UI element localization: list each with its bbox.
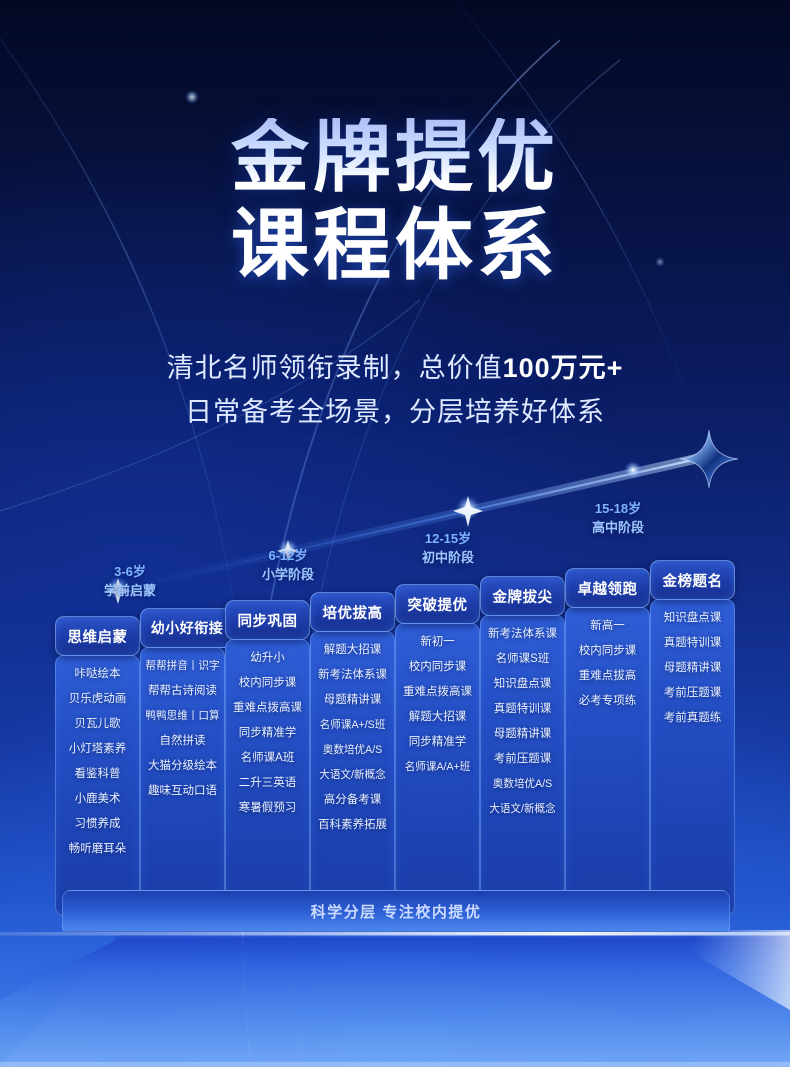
course-item[interactable]: 母题精讲课 — [664, 656, 722, 681]
course-item[interactable]: 鸭鸭思维丨口算 — [145, 704, 219, 729]
course-column-body-0: 咔哒绘本贝乐虎动画贝瓦儿歌小灯塔素养看鉴科普小鹿美术习惯养成畅听磨耳朵 — [55, 655, 140, 916]
course-column-body-1: 帮帮拼音丨识字帮帮古诗阅读鸭鸭思维丨口算自然拼读大猫分级绘本趣味互动口语 — [140, 647, 225, 916]
course-column-header-7[interactable]: 金榜题名 — [650, 560, 735, 600]
course-column-body-7: 知识盘点课真题特训课母题精讲课考前压题课考前真题练 — [650, 599, 735, 916]
course-item[interactable]: 看鉴科普 — [75, 762, 121, 787]
course-item[interactable]: 小灯塔素养 — [69, 737, 127, 762]
course-item[interactable]: 新考法体系课 — [488, 622, 557, 647]
course-item[interactable]: 二升三英语 — [239, 771, 297, 796]
stage-label-3: 15-18岁 高中阶段 — [592, 500, 644, 538]
stage-age-2: 12-15岁 — [422, 530, 474, 549]
course-column-header-1[interactable]: 幼小好衔接 — [140, 608, 234, 648]
subtitle-line-1-highlight: 100万元+ — [503, 353, 624, 383]
course-item[interactable]: 帮帮古诗阅读 — [148, 679, 217, 704]
course-column-header-label-1: 幼小好衔接 — [151, 618, 224, 638]
course-column-header-2[interactable]: 同步巩固 — [225, 600, 310, 640]
promo-poster: 金牌提优 课程体系 清北名师领衔录制，总价值100万元+ 日常备考全场景，分层培… — [0, 0, 790, 1067]
course-item[interactable]: 百科素养拓展 — [318, 813, 387, 838]
bottom-banner: 科学分层 专注校内提优 — [62, 890, 730, 932]
course-column-header-5[interactable]: 金牌拔尖 — [480, 576, 565, 616]
course-item[interactable]: 奥数培优A/S — [493, 772, 552, 797]
course-column-header-6[interactable]: 卓越领跑 — [565, 568, 650, 608]
course-item[interactable]: 新考法体系课 — [318, 663, 387, 688]
stage-name-3: 高中阶段 — [592, 519, 644, 538]
course-item[interactable]: 母题精讲课 — [494, 722, 552, 747]
course-ladder: 咔哒绘本贝乐虎动画贝瓦儿歌小灯塔素养看鉴科普小鹿美术习惯养成畅听磨耳朵思维启蒙帮… — [0, 560, 790, 900]
course-item[interactable]: 畅听磨耳朵 — [69, 837, 127, 862]
course-column-header-label-5: 金牌拔尖 — [493, 586, 553, 607]
course-item[interactable]: 大语文/新概念 — [489, 797, 556, 822]
course-item[interactable]: 解题大招课 — [409, 705, 467, 730]
page-title-line-1: 金牌提优 — [0, 118, 790, 198]
course-item[interactable]: 高分备考课 — [324, 788, 382, 813]
subtitle-line-1-text: 清北名师领衔录制，总价值 — [167, 353, 503, 383]
course-column-header-0[interactable]: 思维启蒙 — [55, 616, 140, 656]
course-item[interactable]: 真题特训课 — [664, 631, 722, 656]
course-item[interactable]: 考前压题课 — [664, 681, 722, 706]
course-item[interactable]: 校内同步课 — [409, 655, 467, 680]
course-item[interactable]: 知识盘点课 — [664, 606, 722, 631]
course-item[interactable]: 重难点拨高课 — [403, 680, 472, 705]
course-item[interactable]: 解题大招课 — [324, 638, 382, 663]
course-column-header-label-4: 突破提优 — [408, 594, 468, 615]
course-item[interactable]: 真题特训课 — [494, 697, 552, 722]
course-column-header-label-0: 思维启蒙 — [68, 626, 128, 647]
course-item[interactable]: 同步精准学 — [239, 721, 297, 746]
course-item[interactable]: 贝瓦儿歌 — [75, 712, 121, 737]
course-item[interactable]: 校内同步课 — [579, 639, 637, 664]
course-item[interactable]: 同步精准学 — [409, 730, 467, 755]
subtitle-line-2: 日常备考全场景，分层培养好体系 — [0, 391, 790, 435]
hero-subtitle-block: 清北名师领衔录制，总价值100万元+ 日常备考全场景，分层培养好体系 — [0, 347, 790, 434]
course-item[interactable]: 母题精讲课 — [324, 688, 382, 713]
course-item[interactable]: 幼升小 — [250, 646, 285, 671]
course-item[interactable]: 寒暑假预习 — [239, 796, 297, 821]
course-column-header-label-2: 同步巩固 — [238, 610, 298, 631]
course-item[interactable]: 新高一 — [590, 614, 625, 639]
course-column-header-label-3: 培优拔高 — [323, 602, 383, 623]
page-title-line-2: 课程体系 — [0, 206, 790, 286]
four-point-star-icon — [678, 428, 740, 490]
course-item[interactable]: 名师课S班 — [496, 647, 550, 672]
course-column-body-3: 解题大招课新考法体系课母题精讲课名师课A+/S班奥数培优A/S大语文/新概念高分… — [310, 631, 395, 916]
course-column-body-5: 新考法体系课名师课S班知识盘点课真题特训课母题精讲课考前压题课奥数培优A/S大语… — [480, 615, 565, 916]
course-item[interactable]: 知识盘点课 — [494, 672, 552, 697]
course-item[interactable]: 自然拼读 — [160, 729, 206, 754]
course-item[interactable]: 名师课A班 — [241, 746, 295, 771]
course-item[interactable]: 重难点拔高 — [579, 664, 637, 689]
course-item[interactable]: 新初一 — [420, 630, 455, 655]
course-column-body-4: 新初一校内同步课重难点拨高课解题大招课同步精准学名师课A/A+班 — [395, 623, 480, 916]
course-column-body-6: 新高一校内同步课重难点拔高必考专项练 — [565, 607, 650, 916]
course-item[interactable]: 大语文/新概念 — [319, 763, 386, 788]
course-item[interactable]: 咔哒绘本 — [75, 662, 121, 687]
course-item[interactable]: 贝乐虎动画 — [69, 687, 127, 712]
course-item[interactable]: 奥数培优A/S — [323, 738, 382, 763]
course-item[interactable]: 名师课A+/S班 — [320, 713, 386, 738]
course-item[interactable]: 趣味互动口语 — [148, 779, 217, 804]
stage-age-3: 15-18岁 — [592, 500, 644, 519]
course-item[interactable]: 帮帮拼音丨识字 — [145, 654, 219, 679]
course-column-header-label-6: 卓越领跑 — [578, 578, 638, 599]
hero-title-block: 金牌提优 课程体系 — [0, 118, 790, 285]
subtitle-line-1: 清北名师领衔录制，总价值100万元+ — [0, 347, 790, 391]
course-item[interactable]: 校内同步课 — [239, 671, 297, 696]
course-item[interactable]: 小鹿美术 — [75, 787, 121, 812]
course-item[interactable]: 考前真题练 — [664, 706, 722, 731]
bottom-banner-text: 科学分层 专注校内提优 — [311, 901, 482, 922]
course-item[interactable]: 习惯养成 — [75, 812, 121, 837]
course-column-header-label-7: 金榜题名 — [663, 570, 723, 591]
course-item[interactable]: 重难点拨高课 — [233, 696, 302, 721]
course-item[interactable]: 名师课A/A+班 — [405, 755, 471, 780]
course-column-header-3[interactable]: 培优拔高 — [310, 592, 395, 632]
course-item[interactable]: 考前压题课 — [494, 747, 552, 772]
course-column-body-2: 幼升小校内同步课重难点拨高课同步精准学名师课A班二升三英语寒暑假预习 — [225, 639, 310, 916]
course-column-header-4[interactable]: 突破提优 — [395, 584, 480, 624]
course-item[interactable]: 必考专项练 — [579, 689, 637, 714]
course-item[interactable]: 大猫分级绘本 — [148, 754, 217, 779]
